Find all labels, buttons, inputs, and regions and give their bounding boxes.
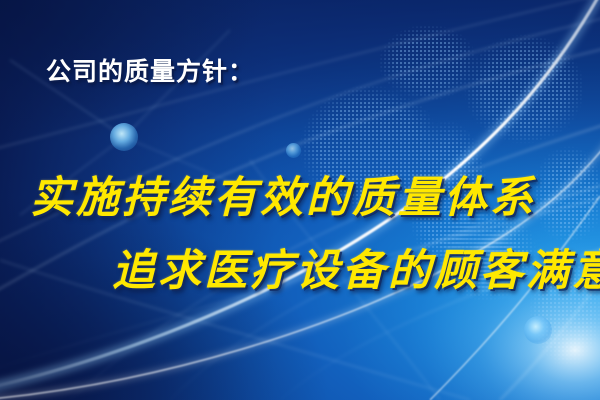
policy-line-2: 追求医疗设备的顾客满意 [112, 236, 600, 298]
policy-line-1: 实施持续有效的质量体系 [30, 163, 536, 225]
policy-heading: 公司的质量方针： [46, 52, 254, 88]
quality-policy-banner: 公司的质量方针： 实施持续有效的质量体系 追求医疗设备的顾客满意 [0, 0, 600, 400]
